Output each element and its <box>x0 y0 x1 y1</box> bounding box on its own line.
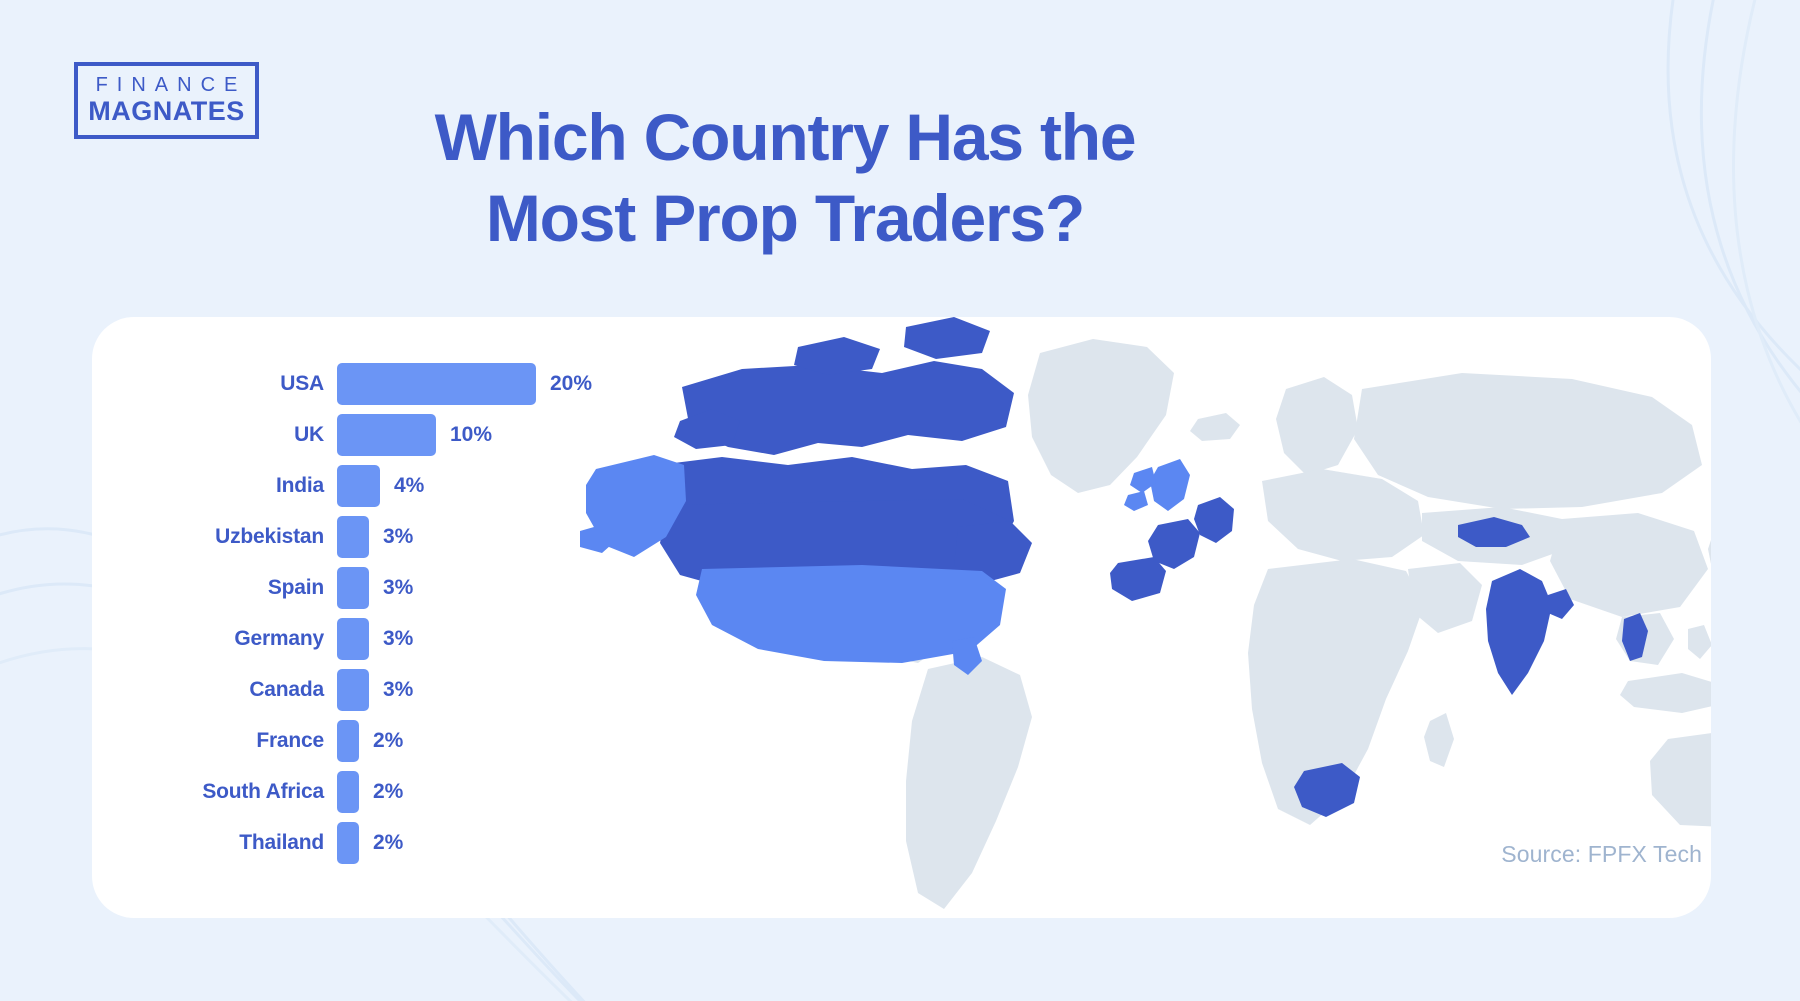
map-highlighted-light-countries <box>580 455 1190 675</box>
infographic-canvas: FINANCE MAGNATES Which Country Has the M… <box>0 0 1800 1001</box>
table-row: Spain 3% <box>132 562 652 613</box>
page-title-line-1: Which Country Has the <box>330 97 1240 178</box>
brand-logo-bottom: MAGNATES <box>88 97 245 127</box>
bar-label: Uzbekistan <box>132 525 337 549</box>
brand-logo-top: FINANCE <box>87 74 247 97</box>
table-row: India 4% <box>132 460 652 511</box>
table-row: USA 20% <box>132 358 652 409</box>
bar-track: 10% <box>337 409 652 460</box>
bar-value: 10% <box>450 423 492 447</box>
bar-fill <box>337 516 369 558</box>
bar-fill <box>337 465 380 507</box>
bar-chart: USA 20% UK 10% India 4% <box>132 358 652 868</box>
bar-value: 3% <box>383 627 413 651</box>
content-card: USA 20% UK 10% India 4% <box>92 317 1711 918</box>
bar-track: 3% <box>337 664 652 715</box>
bar-track: 3% <box>337 613 652 664</box>
bar-value: 2% <box>373 729 403 753</box>
bar-label: France <box>132 729 337 753</box>
table-row: France 2% <box>132 715 652 766</box>
bar-track: 4% <box>337 460 652 511</box>
page-title: Which Country Has the Most Prop Traders? <box>330 97 1240 258</box>
bar-label: Spain <box>132 576 337 600</box>
world-map-svg <box>562 317 1711 918</box>
bar-track: 2% <box>337 715 652 766</box>
map-highlighted-dark-countries <box>658 317 1648 817</box>
source-credit: Source: FPFX Tech <box>1501 841 1702 868</box>
bar-fill <box>337 414 436 456</box>
page-title-line-2: Most Prop Traders? <box>330 178 1240 259</box>
table-row: Uzbekistan 3% <box>132 511 652 562</box>
brand-logo: FINANCE MAGNATES <box>74 62 259 139</box>
bar-fill <box>337 669 369 711</box>
bar-fill <box>337 567 369 609</box>
bar-value: 3% <box>383 576 413 600</box>
map-base-countries <box>848 339 1711 909</box>
bar-track: 2% <box>337 766 652 817</box>
bar-value: 2% <box>373 780 403 804</box>
bar-value: 3% <box>383 525 413 549</box>
bar-label: Thailand <box>132 831 337 855</box>
bar-label: Germany <box>132 627 337 651</box>
table-row: Thailand 2% <box>132 817 652 868</box>
bar-track: 20% <box>337 358 652 409</box>
bar-track: 2% <box>337 817 652 868</box>
bar-fill <box>337 720 359 762</box>
bar-value: 20% <box>550 372 592 396</box>
bar-fill <box>337 363 536 405</box>
bar-fill <box>337 822 359 864</box>
bar-track: 3% <box>337 511 652 562</box>
bar-label: USA <box>132 372 337 396</box>
table-row: South Africa 2% <box>132 766 652 817</box>
bar-label: India <box>132 474 337 498</box>
bar-label: UK <box>132 423 337 447</box>
bar-fill <box>337 618 369 660</box>
table-row: UK 10% <box>132 409 652 460</box>
bar-label: South Africa <box>132 780 337 804</box>
bar-fill <box>337 771 359 813</box>
table-row: Germany 3% <box>132 613 652 664</box>
bar-value: 3% <box>383 678 413 702</box>
bar-value: 4% <box>394 474 424 498</box>
bar-value: 2% <box>373 831 403 855</box>
world-map <box>562 317 1711 918</box>
bar-label: Canada <box>132 678 337 702</box>
table-row: Canada 3% <box>132 664 652 715</box>
bar-track: 3% <box>337 562 652 613</box>
